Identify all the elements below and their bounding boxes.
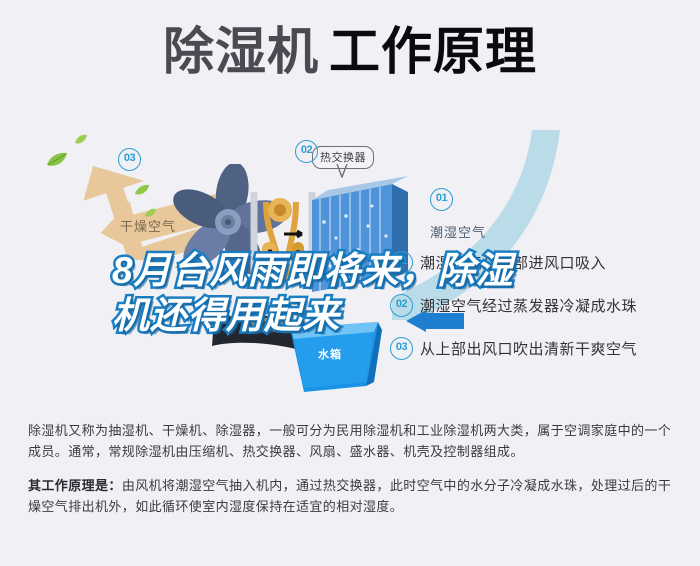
headline-overlay: 8月台风雨即将来，除湿 机还得用起来	[112, 248, 532, 338]
diagram-badge-02: 02	[295, 140, 318, 163]
callout-tail-icon	[336, 164, 348, 178]
page-title-secondary: 工作原理	[329, 26, 537, 77]
step-badge-03: 03	[390, 337, 413, 360]
article-body: 除湿机又称为抽湿机、干燥机、除湿器，一般可分为民用除湿机和工业除湿机两大类，属于…	[28, 420, 676, 530]
leaf-icon	[74, 134, 88, 145]
paragraph-1: 除湿机又称为抽湿机、干燥机、除湿器，一般可分为民用除湿机和工业除湿机两大类，属于…	[28, 420, 676, 462]
headline-line-1: 8月台风雨即将来，除湿	[112, 248, 532, 293]
page-title-primary: 除湿机	[163, 26, 319, 77]
dry-air-label: 干燥空气	[120, 216, 176, 235]
diagram-badge-01: 01	[430, 188, 453, 211]
diagram-badge-03: 03	[118, 148, 141, 171]
humid-air-label: 潮湿空气	[430, 222, 486, 241]
step-text-03: 从上部出风口吹出清新干爽空气	[420, 338, 637, 359]
paragraph-2-lead: 其工作原理是：	[28, 478, 122, 493]
leaf-icon	[46, 152, 68, 168]
poster-canvas: 除湿机工作原理 干燥空气	[0, 0, 700, 566]
water-tank-label: 水箱	[318, 346, 342, 362]
page-title: 除湿机工作原理	[0, 26, 700, 77]
leaf-icon	[134, 184, 150, 196]
leaf-icon	[144, 208, 157, 218]
paragraph-2: 其工作原理是：由风机将潮湿空气抽入机内，通过热交换器，此时空气中的水分子冷凝成水…	[28, 475, 676, 517]
headline-line-2: 机还得用起来	[112, 293, 532, 338]
paragraph-2-rest: 由风机将潮湿空气抽入机内，通过热交换器，此时空气中的水分子冷凝成水珠，处理过后的…	[28, 478, 671, 514]
